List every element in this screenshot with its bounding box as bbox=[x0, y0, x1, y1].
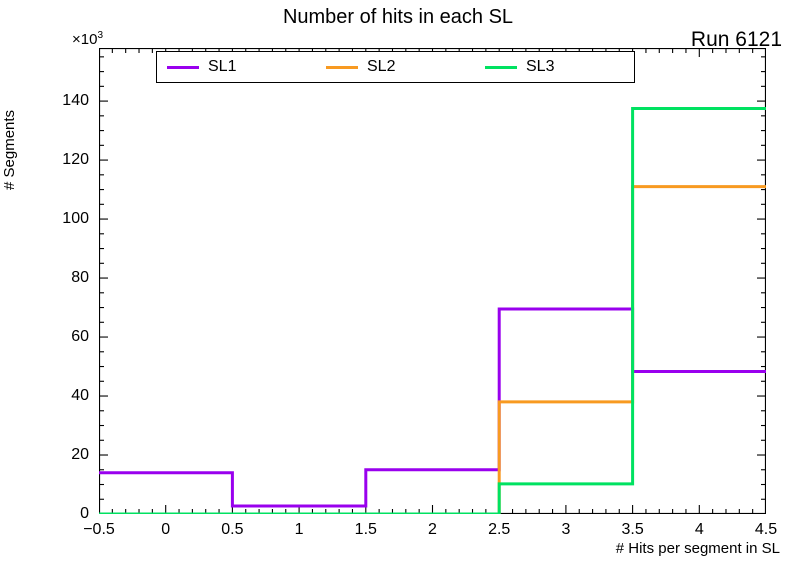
legend-label: SL1 bbox=[208, 59, 236, 75]
series-line-sl1 bbox=[99, 309, 766, 506]
page-title: Number of hits in each SL bbox=[0, 5, 796, 29]
y-axis-multiplier: ×103 bbox=[72, 28, 103, 48]
y-axis-tick-label: 140 bbox=[0, 93, 89, 109]
x-axis-tick-label: 4.5 bbox=[755, 522, 777, 538]
y-axis-tick-label: 0 bbox=[0, 506, 89, 522]
legend-box: SL1SL2SL3 bbox=[156, 51, 635, 83]
legend-swatch-sl2-icon bbox=[326, 66, 358, 69]
x-axis-tick-label: 1 bbox=[295, 522, 304, 538]
x-axis-tick-label: 0 bbox=[161, 522, 170, 538]
y-axis-tick-label: 20 bbox=[0, 447, 89, 463]
y-axis-multiplier-exponent: 3 bbox=[97, 30, 103, 41]
y-axis-multiplier-base: ×10 bbox=[72, 31, 97, 48]
legend-entry-sl2[interactable]: SL2 bbox=[316, 59, 475, 75]
y-axis-tick-label: 100 bbox=[0, 211, 89, 227]
histogram-svg bbox=[99, 48, 766, 514]
root-canvas: Number of hits in each SL Run 6121 ×103 … bbox=[0, 0, 796, 572]
legend-swatch-sl1-icon bbox=[167, 66, 199, 69]
x-axis-tick-label: 3.5 bbox=[621, 522, 643, 538]
legend-label: SL2 bbox=[367, 59, 395, 75]
series-line-sl2 bbox=[99, 187, 766, 514]
series-line-sl3 bbox=[99, 108, 766, 514]
y-axis-tick-label: 60 bbox=[0, 329, 89, 345]
y-axis-title: # Segments bbox=[2, 168, 18, 190]
y-axis-tick-label: 120 bbox=[0, 152, 89, 168]
legend-label: SL3 bbox=[526, 59, 554, 75]
plot-area bbox=[99, 48, 766, 514]
x-axis-tick-label: 3 bbox=[561, 522, 570, 538]
x-axis-title: # Hits per segment in SL bbox=[0, 540, 780, 558]
plot-frame-border bbox=[100, 49, 766, 514]
legend-entry-sl1[interactable]: SL1 bbox=[157, 59, 316, 75]
x-axis-tick-label: 2.5 bbox=[488, 522, 510, 538]
legend-entry-sl3[interactable]: SL3 bbox=[475, 59, 634, 75]
x-axis-tick-label: 0.5 bbox=[221, 522, 243, 538]
x-axis-tick-label: 2 bbox=[428, 522, 437, 538]
y-axis-tick-label: 80 bbox=[0, 270, 89, 286]
y-axis-tick-label: 40 bbox=[0, 388, 89, 404]
x-axis-tick-label: −0.5 bbox=[83, 522, 115, 538]
x-axis-tick-label: 1.5 bbox=[355, 522, 377, 538]
x-axis-tick-label: 4 bbox=[695, 522, 704, 538]
legend-swatch-sl3-icon bbox=[485, 66, 517, 69]
